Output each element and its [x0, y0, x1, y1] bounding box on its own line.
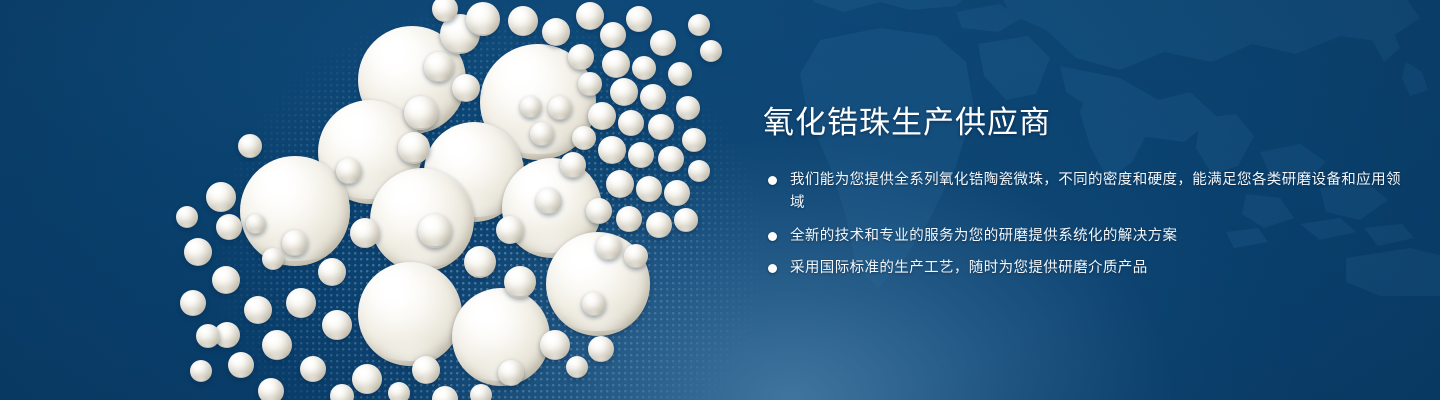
- list-item: 我们能为您提供全系列氧化锆陶瓷微珠，不同的密度和硬度，能满足您各类研磨设备和应用…: [763, 169, 1403, 216]
- bullet-dot-icon: [768, 232, 777, 241]
- bullet-dot-icon: [768, 176, 777, 185]
- page-title: 氧化锆珠生产供应商: [763, 104, 1403, 143]
- list-item-text: 全新的技术和专业的服务为您的研磨提供系统化的解决方案: [790, 228, 1177, 244]
- list-item-text: 采用国际标准的生产工艺，随时为您提供研磨介质产品: [790, 260, 1148, 276]
- list-item: 全新的技术和专业的服务为您的研磨提供系统化的解决方案: [763, 225, 1403, 248]
- banner-copy: 氧化锆珠生产供应商 我们能为您提供全系列氧化锆陶瓷微珠，不同的密度和硬度，能满足…: [763, 104, 1403, 281]
- hero-banner: 氧化锆珠生产供应商 我们能为您提供全系列氧化锆陶瓷微珠，不同的密度和硬度，能满足…: [0, 0, 1440, 400]
- list-item-text: 我们能为您提供全系列氧化锆陶瓷微珠，不同的密度和硬度，能满足您各类研磨设备和应用…: [790, 172, 1401, 211]
- list-item: 采用国际标准的生产工艺，随时为您提供研磨介质产品: [763, 257, 1403, 280]
- feature-list: 我们能为您提供全系列氧化锆陶瓷微珠，不同的密度和硬度，能满足您各类研磨设备和应用…: [763, 169, 1403, 281]
- bullet-dot-icon: [768, 264, 777, 273]
